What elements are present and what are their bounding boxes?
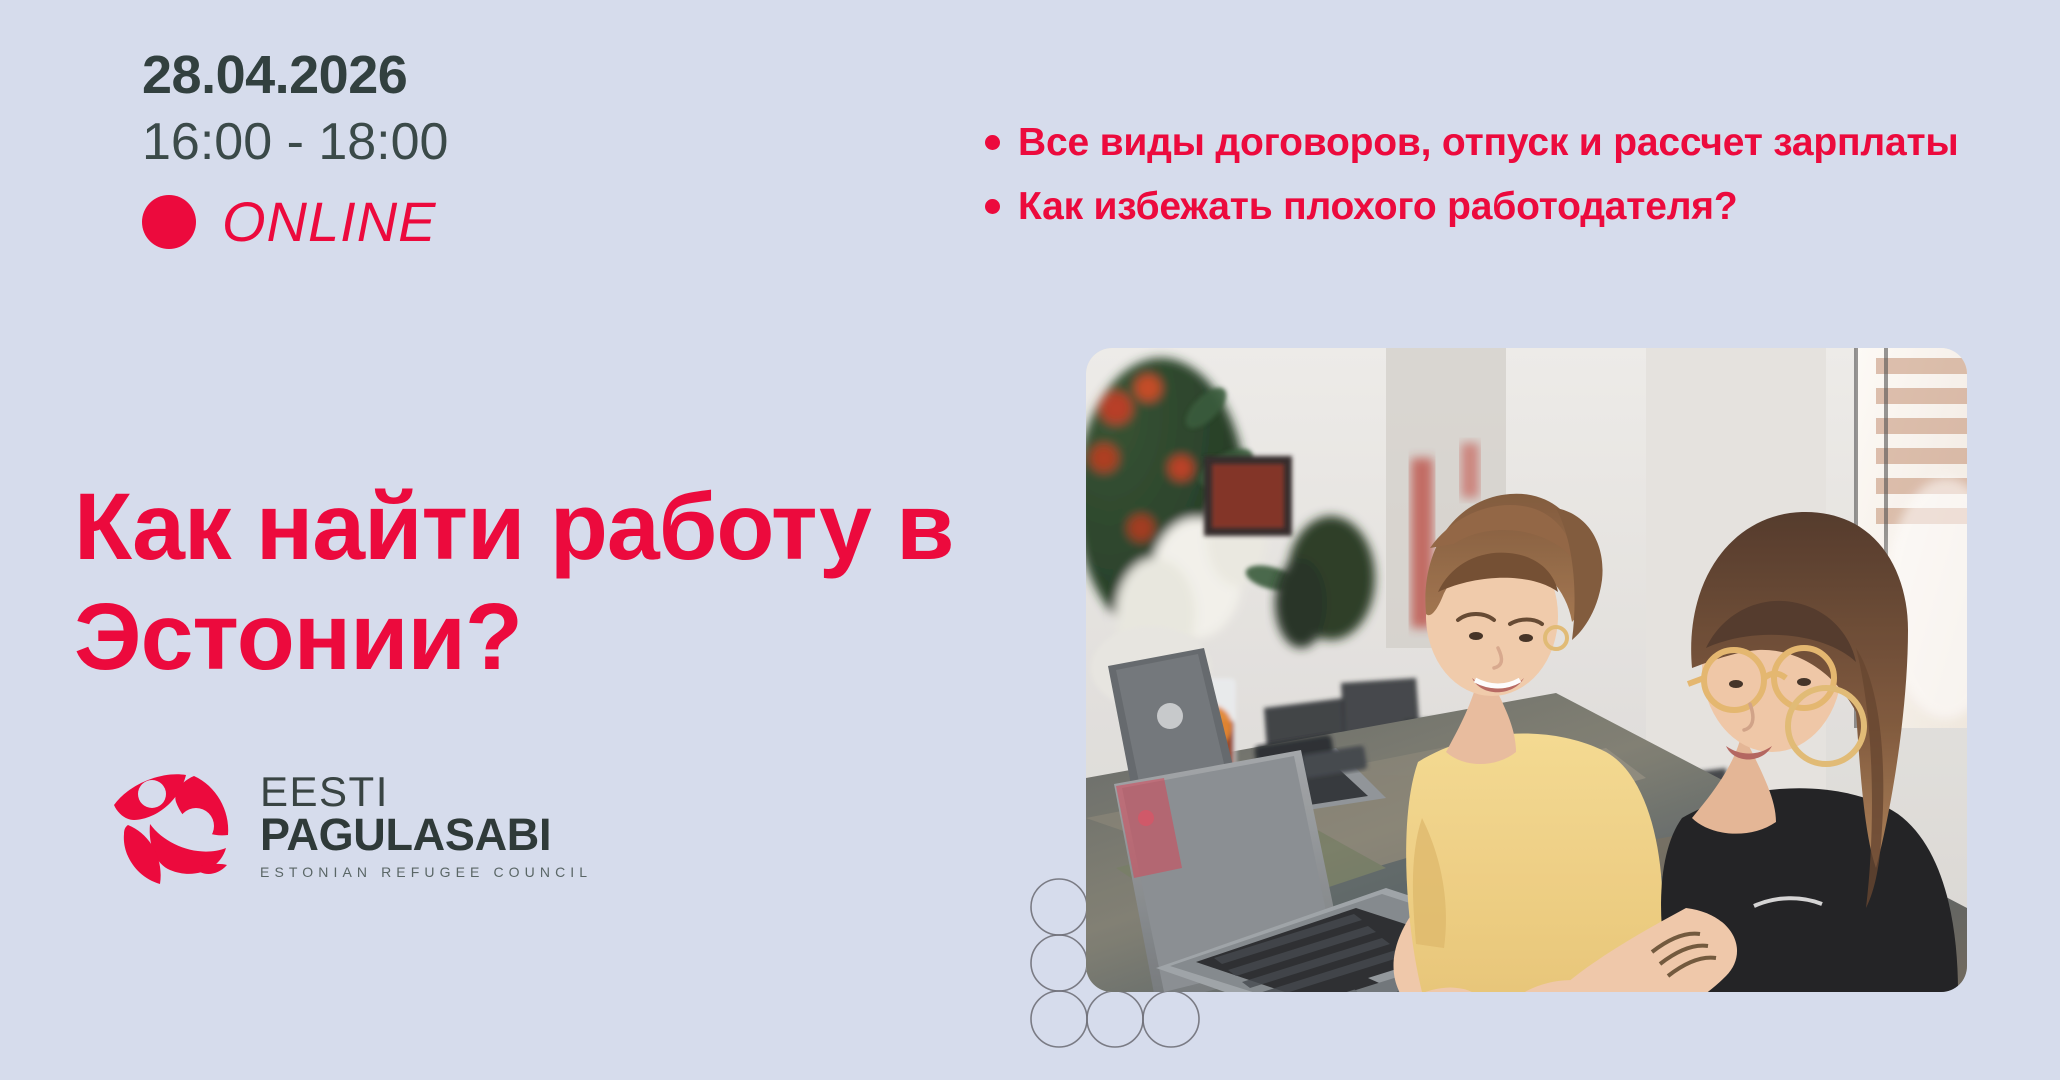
logo-line-eesti: EESTI [260, 771, 592, 812]
list-item: Все виды договоров, отпуск и рассчет зар… [985, 118, 1958, 168]
topic-text: Как избежать плохого работодателя? [1018, 182, 1737, 232]
topics-list: Все виды договоров, отпуск и рассчет зар… [985, 118, 1958, 246]
event-promo-poster: 28.04.2026 16:00 - 18:00 ONLINE Все виды… [0, 0, 2060, 1080]
organization-logo: EESTI PAGULASABI ESTONIAN REFUGEE COUNCI… [108, 762, 592, 888]
event-date: 28.04.2026 [142, 48, 448, 102]
logo-line-pagulasabi: PAGULASABI [260, 812, 592, 858]
online-label: ONLINE [222, 194, 437, 250]
online-badge: ONLINE [142, 194, 437, 250]
bullet-dot-icon [985, 199, 1000, 214]
event-photo [1086, 348, 1967, 992]
event-datetime-block: 28.04.2026 16:00 - 18:00 [142, 48, 448, 168]
refugee-council-mark-icon [108, 762, 238, 888]
page-title: Как найти работу в Эстонии? [74, 472, 974, 692]
list-item: Как избежать плохого работодателя? [985, 182, 1958, 232]
logo-tagline: ESTONIAN REFUGEE COUNCIL [260, 865, 592, 879]
online-dot-icon [142, 195, 196, 249]
event-time-range: 16:00 - 18:00 [142, 116, 448, 168]
bullet-dot-icon [985, 135, 1000, 150]
topic-text: Все виды договоров, отпуск и рассчет зар… [1018, 118, 1958, 168]
logo-wordmark: EESTI PAGULASABI ESTONIAN REFUGEE COUNCI… [260, 771, 592, 879]
